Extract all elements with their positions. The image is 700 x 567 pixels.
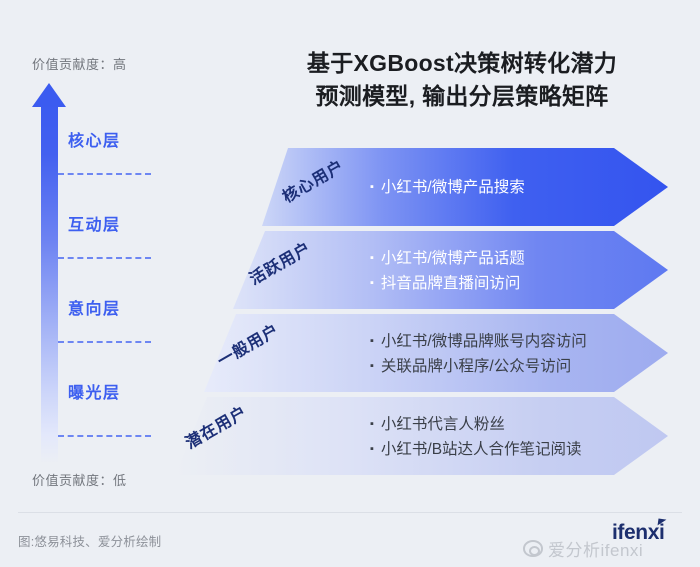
funnel-bullet-0-0: 小红书/微博产品搜索 xyxy=(370,175,525,200)
weibo-icon xyxy=(523,540,543,557)
funnel-band-bullets-2: 小红书/微博品牌账号内容访问 关联品牌小程序/公众号访问 xyxy=(370,329,587,379)
funnel-band-bullets-3: 小红书代言人粉丝 小红书/B站达人合作笔记阅读 xyxy=(370,412,582,462)
footer-divider xyxy=(18,512,682,513)
funnel-bullet-3-1: 小红书/B站达人合作笔记阅读 xyxy=(370,437,582,462)
funnel-bullet-1-0: 小红书/微博产品话题 xyxy=(370,246,525,271)
source-note: 图:悠易科技、爱分析绘制 xyxy=(18,531,161,550)
watermark-text: 爱分析ifenxi xyxy=(548,536,643,561)
funnel-diagram xyxy=(0,0,700,567)
logo-tick-icon xyxy=(658,518,667,526)
funnel-bullet-2-1: 关联品牌小程序/公众号访问 xyxy=(370,354,587,379)
funnel-band-bullets-0: 小红书/微博产品搜索 xyxy=(370,175,525,200)
weibo-watermark: 爱分析ifenxi xyxy=(523,536,643,561)
funnel-bullet-3-0: 小红书代言人粉丝 xyxy=(370,412,582,437)
slide-canvas: 基于XGBoost决策树转化潜力 预测模型, 输出分层策略矩阵 价值贡献度：高 … xyxy=(0,0,700,567)
funnel-bullet-1-1: 抖音品牌直播间访问 xyxy=(370,271,525,296)
funnel-bullet-2-0: 小红书/微博品牌账号内容访问 xyxy=(370,329,587,354)
funnel-band-bullets-1: 小红书/微博产品话题 抖音品牌直播间访问 xyxy=(370,246,525,296)
